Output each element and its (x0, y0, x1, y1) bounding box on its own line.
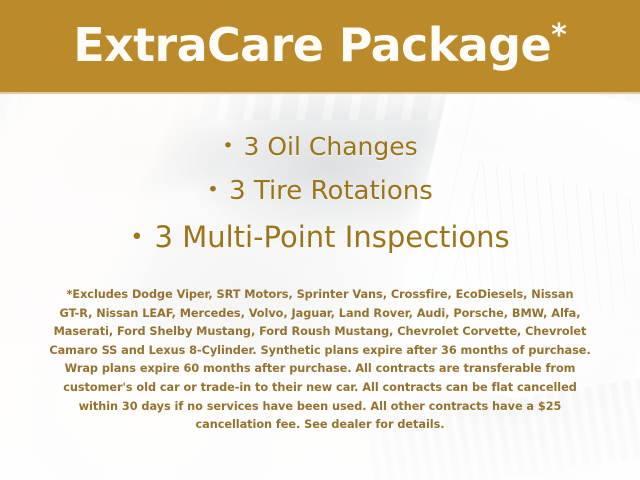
list-item: • 3 Multi-Point Inspections (0, 220, 640, 254)
disclaimer-line: *Excludes Dodge Viper, SRT Motors, Sprin… (34, 286, 606, 305)
list-item: • 3 Tire Rotations (0, 176, 640, 207)
page-title-asterisk: * (551, 18, 567, 53)
benefits-list: • 3 Oil Changes • 3 Tire Rotations • 3 M… (0, 132, 640, 254)
bullet-icon: • (222, 135, 235, 157)
list-item: • 3 Oil Changes (0, 132, 640, 162)
list-item-label: 3 Oil Changes (244, 132, 418, 161)
extracare-package-ad: ExtraCare Package* • 3 Oil Changes • 3 T… (0, 0, 640, 480)
page-title-text: ExtraCare Package (73, 18, 551, 72)
disclaimer-line: cancellation fee. See dealer for details… (34, 416, 606, 435)
bullet-icon: • (207, 178, 221, 201)
disclaimer-line: Maserati, Ford Shelby Mustang, Ford Rous… (34, 323, 606, 342)
disclaimer-text: *Excludes Dodge Viper, SRT Motors, Sprin… (34, 286, 606, 435)
disclaimer-line: GT-R, Nissan LEAF, Mercedes, Volvo, Jagu… (34, 305, 606, 324)
disclaimer-line: customer's old car or trade-in to their … (34, 379, 606, 398)
list-item-label: 3 Tire Rotations (229, 176, 433, 206)
disclaimer-line: Camaro SS and Lexus 8-Cylinder. Syntheti… (34, 342, 606, 361)
list-item-label: 3 Multi-Point Inspections (155, 220, 510, 254)
disclaimer-line: Wrap plans expire 60 months after purcha… (34, 360, 606, 379)
header-band: ExtraCare Package* (0, 0, 640, 94)
bullet-icon: • (130, 225, 145, 250)
disclaimer-line: within 30 days if no services have been … (34, 398, 606, 417)
page-title: ExtraCare Package* (73, 21, 567, 72)
